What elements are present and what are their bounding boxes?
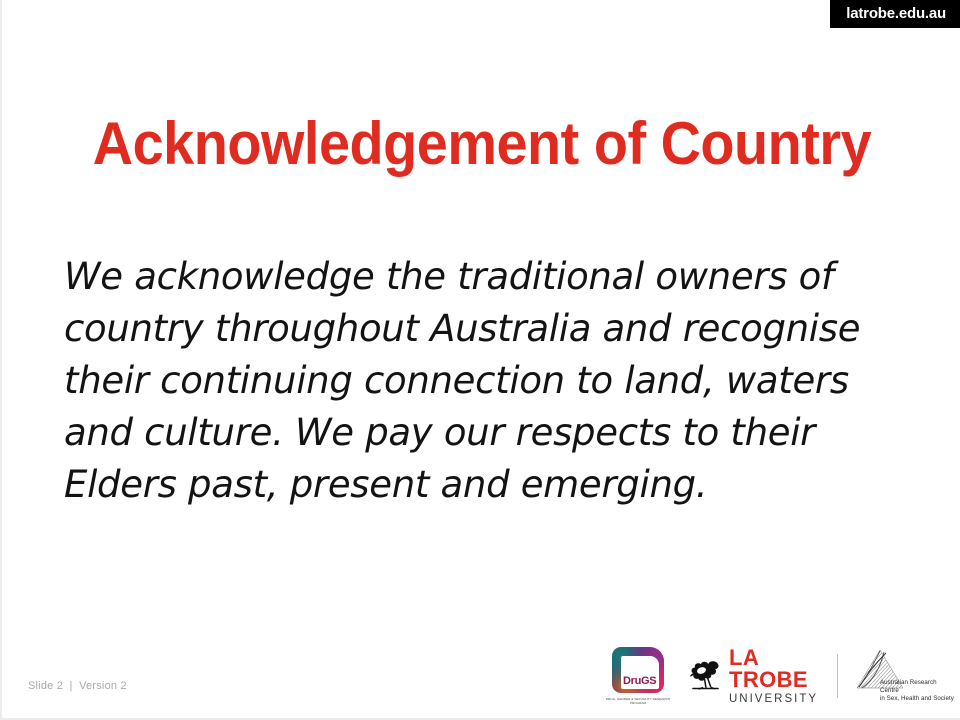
acknowledgement-body-text: We acknowledge the traditional owners of… <box>64 251 904 511</box>
presentation-slide: latrobe.edu.au Acknowledgement of Countr… <box>0 0 960 720</box>
arcshs-line-2: in Sex, Health and Society <box>880 695 954 703</box>
arcshs-line-1: Australian Research Centre <box>880 679 954 695</box>
drugs-d-mark-icon: DruGS <box>612 647 664 693</box>
footer-logo-strip: DruGS DRUG, GENDER & SEXUALITY RESEARCH … <box>602 640 954 712</box>
drugs-wordmark: DruGS <box>623 675 656 687</box>
arcshs-logo: Australian Research Centre in Sex, Healt… <box>850 649 954 703</box>
latrobe-subtitle: UNIVERSITY <box>729 694 825 706</box>
arcshs-wordmark: Australian Research Centre in Sex, Healt… <box>880 679 954 703</box>
latrobe-university-logo: LA TROBE UNIVERSITY <box>688 647 825 706</box>
magpie-bird-icon <box>688 658 722 694</box>
latrobe-url-tab: latrobe.edu.au <box>830 0 960 28</box>
latrobe-wordmark: LA TROBE UNIVERSITY <box>729 647 825 706</box>
drugs-tagline: DRUG, GENDER & SEXUALITY RESEARCH PROGRA… <box>602 697 674 706</box>
slide-version-footer: Slide 2 | Version 2 <box>28 680 127 692</box>
drugs-logo: DruGS DRUG, GENDER & SEXUALITY RESEARCH … <box>602 647 674 706</box>
logo-divider <box>837 654 838 698</box>
page-title: Acknowledgement of Country <box>36 112 929 175</box>
latrobe-name: LA TROBE <box>729 647 825 691</box>
